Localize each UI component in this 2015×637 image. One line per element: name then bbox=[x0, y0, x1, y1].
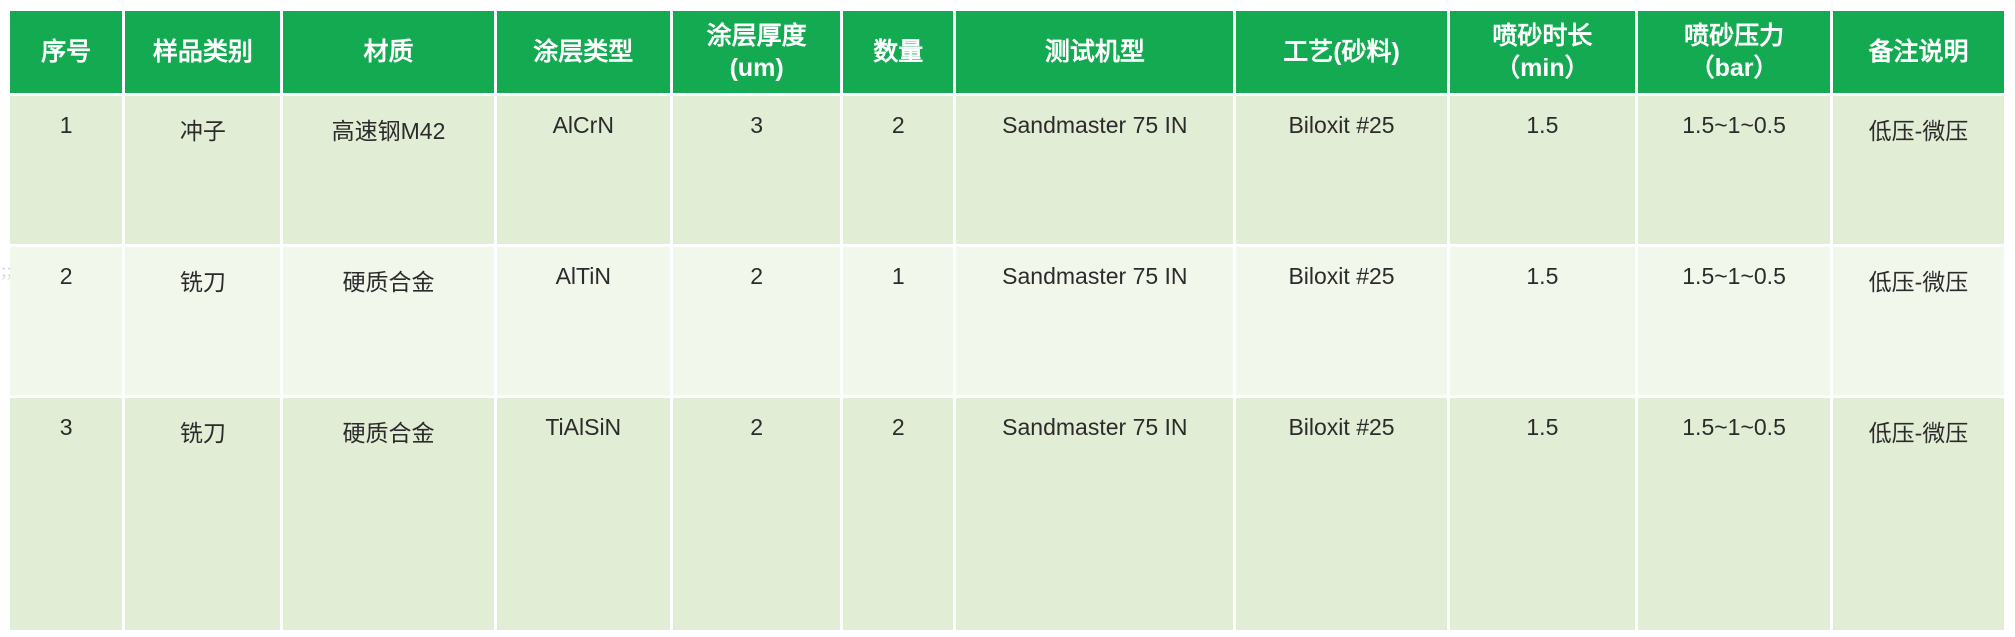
cell-blast-time: 1.5 bbox=[1450, 247, 1636, 395]
cell-coating-thickness: 2 bbox=[673, 247, 840, 395]
cell-sample-type: 冲子 bbox=[125, 96, 280, 244]
table-row[interactable]: 1 冲子 高速钢M42 AlCrN 3 2 Sandmaster 75 IN B… bbox=[10, 96, 2004, 244]
table-header: 序号 样品类别 材质 涂层类型 涂层厚度 (um) 数量 测试机型 工艺(砂料)… bbox=[10, 11, 2004, 93]
cell-material: 硬质合金 bbox=[283, 247, 493, 395]
column-header-process-media[interactable]: 工艺(砂料) bbox=[1236, 11, 1446, 93]
table-header-row: 序号 样品类别 材质 涂层类型 涂层厚度 (um) 数量 测试机型 工艺(砂料)… bbox=[10, 11, 2004, 93]
cell-blast-pressure: 1.5~1~0.5 bbox=[1638, 247, 1830, 395]
cell-process-media: Biloxit #25 bbox=[1236, 247, 1446, 395]
cell-coating-thickness: 2 bbox=[673, 398, 840, 630]
cell-blast-time: 1.5 bbox=[1450, 398, 1636, 630]
column-header-remarks[interactable]: 备注说明 bbox=[1833, 11, 2004, 93]
cell-sample-type: 铣刀 bbox=[125, 398, 280, 630]
table-body: 1 冲子 高速钢M42 AlCrN 3 2 Sandmaster 75 IN B… bbox=[10, 96, 2004, 630]
table-row[interactable]: 2 铣刀 硬质合金 AlTiN 2 1 Sandmaster 75 IN Bil… bbox=[10, 247, 2004, 395]
sample-test-table: 序号 样品类别 材质 涂层类型 涂层厚度 (um) 数量 测试机型 工艺(砂料)… bbox=[7, 8, 2007, 633]
cell-coating-type: TiAlSiN bbox=[497, 398, 670, 630]
cell-test-machine: Sandmaster 75 IN bbox=[956, 247, 1233, 395]
cell-process-media: Biloxit #25 bbox=[1236, 96, 1446, 244]
cell-quantity: 1 bbox=[843, 247, 953, 395]
cell-material: 高速钢M42 bbox=[283, 96, 493, 244]
column-header-test-machine[interactable]: 测试机型 bbox=[956, 11, 1233, 93]
cell-blast-pressure: 1.5~1~0.5 bbox=[1638, 398, 1830, 630]
cell-process-media: Biloxit #25 bbox=[1236, 398, 1446, 630]
column-header-blast-time[interactable]: 喷砂时长 （min） bbox=[1450, 11, 1636, 93]
cell-quantity: 2 bbox=[843, 398, 953, 630]
column-header-coating-thickness[interactable]: 涂层厚度 (um) bbox=[673, 11, 840, 93]
cell-index: 3 bbox=[10, 398, 122, 630]
column-header-index[interactable]: 序号 bbox=[10, 11, 122, 93]
column-header-sample-type[interactable]: 样品类别 bbox=[125, 11, 280, 93]
cell-coating-type: AlTiN bbox=[497, 247, 670, 395]
cell-blast-pressure: 1.5~1~0.5 bbox=[1638, 96, 1830, 244]
cell-test-machine: Sandmaster 75 IN bbox=[956, 398, 1233, 630]
cell-test-machine: Sandmaster 75 IN bbox=[956, 96, 1233, 244]
cell-quantity: 2 bbox=[843, 96, 953, 244]
cell-coating-type: AlCrN bbox=[497, 96, 670, 244]
cell-remarks: 低压-微压 bbox=[1833, 398, 2004, 630]
column-header-quantity[interactable]: 数量 bbox=[843, 11, 953, 93]
cell-remarks: 低压-微压 bbox=[1833, 96, 2004, 244]
cell-index: 1 bbox=[10, 96, 122, 244]
column-header-material[interactable]: 材质 bbox=[283, 11, 493, 93]
cell-material: 硬质合金 bbox=[283, 398, 493, 630]
table-row[interactable]: 3 铣刀 硬质合金 TiAlSiN 2 2 Sandmaster 75 IN B… bbox=[10, 398, 2004, 630]
data-table-container: 序号 样品类别 材质 涂层类型 涂层厚度 (um) 数量 测试机型 工艺(砂料)… bbox=[7, 8, 2007, 628]
cell-remarks: 低压-微压 bbox=[1833, 247, 2004, 395]
cell-coating-thickness: 3 bbox=[673, 96, 840, 244]
cell-blast-time: 1.5 bbox=[1450, 96, 1636, 244]
cell-sample-type: 铣刀 bbox=[125, 247, 280, 395]
cell-index: 2 bbox=[10, 247, 122, 395]
column-header-coating-type[interactable]: 涂层类型 bbox=[497, 11, 670, 93]
column-header-blast-pressure[interactable]: 喷砂压力 （bar） bbox=[1638, 11, 1830, 93]
